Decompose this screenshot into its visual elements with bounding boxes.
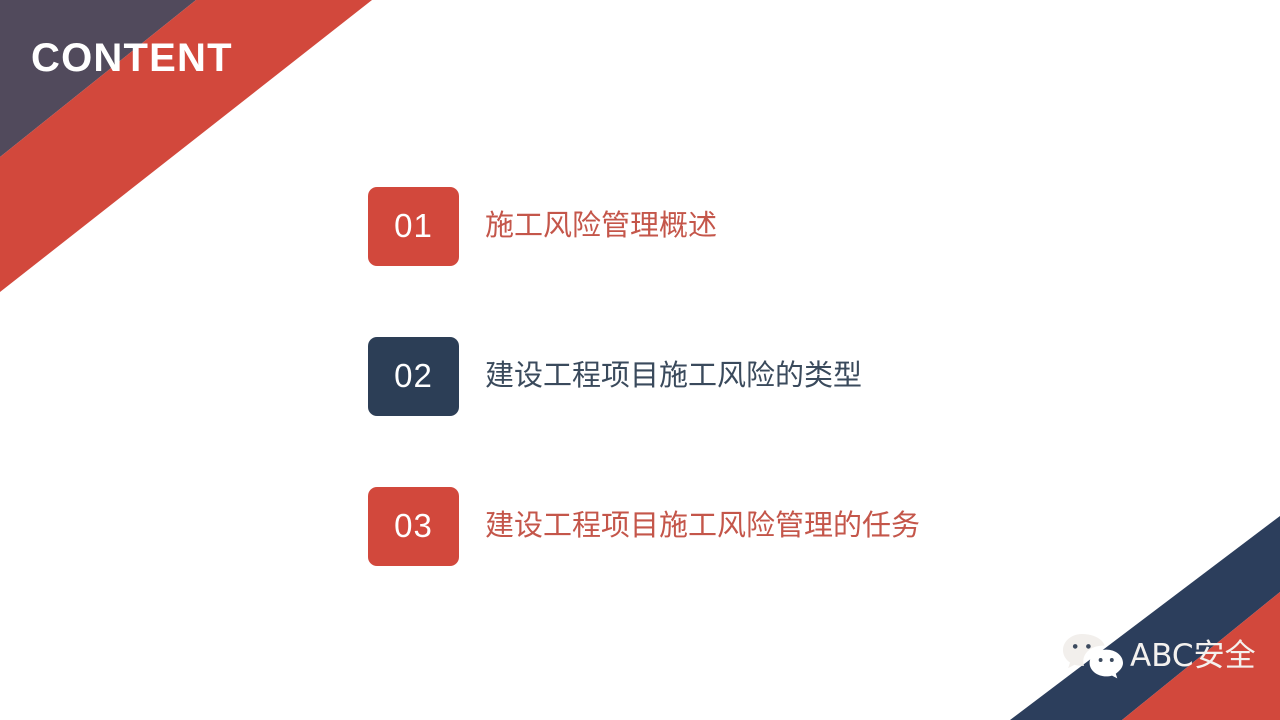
- agenda-number-badge-03: 03: [368, 487, 459, 566]
- agenda-list: 01 施工风险管理概述 02 建设工程项目施工风险的类型 03 建设工程项目施工…: [368, 186, 1228, 566]
- agenda-label-01: 施工风险管理概述: [485, 210, 717, 242]
- page-title: CONTENT: [31, 38, 233, 78]
- watermark: ABC安全: [1062, 632, 1256, 680]
- presentation-slide: CONTENT 01 施工风险管理概述 02 建设工程项目施工风险的类型 03 …: [0, 0, 1280, 720]
- agenda-label-02: 建设工程项目施工风险的类型: [485, 360, 862, 392]
- agenda-number-badge-02: 02: [368, 337, 459, 416]
- agenda-item-03[interactable]: 03 建设工程项目施工风险管理的任务: [368, 486, 1228, 566]
- wechat-icon: [1062, 632, 1124, 680]
- agenda-item-01[interactable]: 01 施工风险管理概述: [368, 186, 1228, 266]
- agenda-item-02[interactable]: 02 建设工程项目施工风险的类型: [368, 336, 1228, 416]
- agenda-number-badge-01: 01: [368, 187, 459, 266]
- agenda-label-03: 建设工程项目施工风险管理的任务: [485, 510, 920, 542]
- watermark-text: ABC安全: [1130, 641, 1256, 672]
